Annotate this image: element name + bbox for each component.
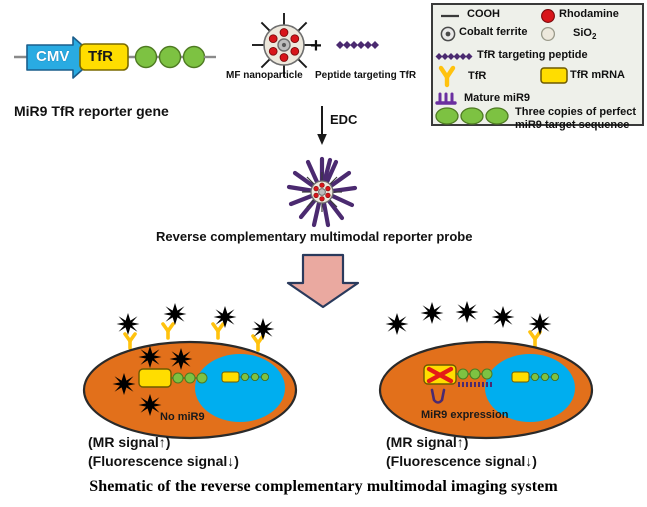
legend-label-tfr-mrna: TfR mRNA — [570, 69, 625, 81]
multimodal-reporter-probe — [289, 159, 355, 225]
legend-label-target-line2: miR9 target sequence — [515, 119, 629, 131]
sio2-text: SiO — [573, 27, 592, 39]
legend-label-tfr: TfR — [468, 70, 486, 82]
probe-cobalt-core — [319, 189, 326, 196]
left-cell-mr-signal: (MR signal↑) — [88, 434, 170, 450]
legend-label-cobalt-ferrite: Cobalt ferrite — [459, 26, 527, 38]
legend-label-sio2: SiO2 — [573, 27, 596, 41]
left-cell-nucleus — [195, 354, 285, 422]
legend-label-cooh: COOH — [467, 8, 500, 20]
tfr-receptor-icon — [441, 68, 453, 85]
edc-label: EDC — [330, 112, 357, 127]
plus-sign: + — [310, 35, 322, 57]
right-cell-free-probes — [386, 301, 515, 335]
tfr-mrna-icon — [541, 68, 567, 83]
legend-box: COOH Rhodamine Cobalt ferrite SiO2 TfR t… — [431, 3, 644, 126]
legend-label-peptide: TfR targeting peptide — [477, 49, 588, 61]
tfr-gene-label: TfR — [88, 48, 113, 65]
mir9-target-icon — [436, 108, 508, 124]
right-cell-state-label: MiR9 expression — [421, 409, 508, 421]
cmv-label: CMV — [36, 48, 69, 65]
mature-mir9-strands — [459, 382, 491, 387]
mf-nanoparticle-caption: MF nanoparticle — [226, 70, 303, 81]
cobalt-ferrite-dot — [282, 43, 286, 47]
sio2-subscript: 2 — [592, 32, 596, 41]
sio2-circle-icon — [542, 28, 555, 41]
peptide-beads-icon — [436, 53, 473, 60]
legend-label-mature-mir9: Mature miR9 — [464, 92, 530, 104]
tfr-targeting-peptide — [336, 41, 379, 49]
peptide-caption: Peptide targeting TfR — [315, 70, 416, 81]
probe-caption: Reverse complementary multimodal reporte… — [156, 229, 472, 244]
legend-label-rhodamine: Rhodamine — [559, 8, 619, 20]
right-cell-mr-signal: (MR signal↑) — [386, 434, 468, 450]
transition-arrow — [288, 255, 358, 307]
cobalt-ferrite-center-dot — [446, 32, 451, 37]
reporter-gene-caption: MiR9 TfR reporter gene — [14, 103, 169, 119]
left-cell-fluorescence-signal: (Fluorescence signal↓) — [88, 453, 239, 469]
mf-nanoparticle — [252, 13, 316, 77]
left-cell-state-label: No miR9 — [160, 411, 205, 423]
figure-caption: Shematic of the reverse complementary mu… — [0, 478, 647, 496]
rhodamine-dot-icon — [542, 10, 555, 23]
right-cell-fluorescence-signal: (Fluorescence signal↓) — [386, 453, 537, 469]
mature-mir9-icon — [437, 94, 455, 103]
edc-reaction-arrow — [317, 106, 327, 145]
mir9-target-copies — [136, 47, 205, 68]
right-cell-surface-receptor — [530, 332, 540, 346]
svg-text:+: + — [310, 35, 322, 57]
left-cell-bound-probes — [117, 303, 275, 340]
legend-label-target-line1: Three copies of perfect — [515, 106, 636, 118]
